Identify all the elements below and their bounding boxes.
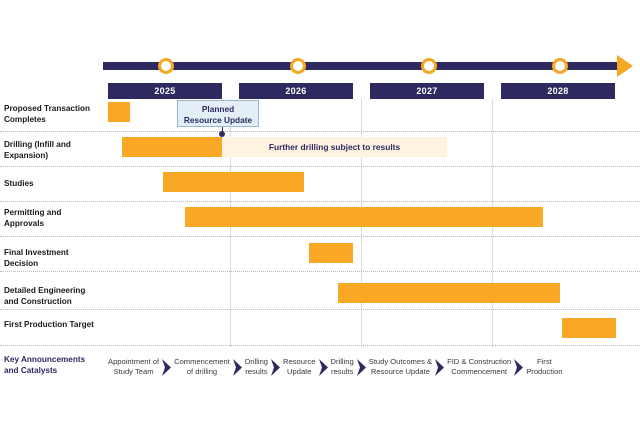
timeline-milestone-marker-2025 — [158, 58, 174, 74]
callout-planned-resource-update: Planned Resource Update — [177, 100, 259, 127]
timeline-milestone-marker-2028 — [552, 58, 568, 74]
catalyst-item-study-outcomes-resource-update: Study Outcomes & Resource Update — [367, 357, 434, 377]
catalyst-item-drilling-results-2: Drilling results — [329, 357, 356, 377]
catalyst-6-line-2: Commencement — [447, 367, 511, 377]
row-separator-2 — [0, 201, 640, 202]
year-header-2025: 2025 — [108, 83, 222, 99]
catalysts-label-line-1: Key Announcements — [4, 354, 104, 365]
row-separator-3 — [0, 236, 640, 237]
row-separator-0 — [0, 131, 640, 132]
catalyst-7-line-1: First — [526, 357, 562, 367]
row-label-detailed-engineering-and-construction: Detailed Engineering and Construction — [4, 285, 100, 307]
row-separator-4 — [0, 271, 640, 272]
catalyst-7-line-2: Production — [526, 367, 562, 377]
catalyst-4-line-2: results — [331, 367, 354, 377]
row-label-first-production-target: First Production Target — [4, 319, 100, 330]
timeline-arrow-icon — [617, 55, 633, 77]
catalyst-1-line-1: Commencement — [174, 357, 230, 367]
row-label-studies: Studies — [4, 178, 100, 189]
bar-drilling-infill-expansion — [122, 137, 222, 157]
row-separator-6 — [0, 345, 640, 346]
catalyst-item-fid-construction-commencement: FID & Construction Commencement — [445, 357, 513, 377]
row-separator-5 — [0, 309, 640, 310]
chevron-right-icon — [162, 359, 171, 376]
bar-studies — [163, 172, 304, 192]
catalyst-4-line-1: Drilling — [331, 357, 354, 367]
catalyst-item-drilling-results-1: Drilling results — [243, 357, 270, 377]
chevron-right-icon — [514, 359, 523, 376]
row-label-proposed-transaction-completes: Proposed Transaction Completes — [4, 103, 100, 125]
callout-line-1: Planned — [182, 104, 254, 115]
catalyst-3-line-1: Resource — [283, 357, 316, 367]
row-label-drilling-infill-and-expansion: Drilling (Infill and Expansion) — [4, 139, 100, 161]
timeline-milestone-marker-2027 — [421, 58, 437, 74]
bar-detailed-engineering-and-construction — [338, 283, 560, 303]
catalyst-3-line-2: Update — [283, 367, 316, 377]
chevron-right-icon — [357, 359, 366, 376]
bar-final-investment-decision — [309, 243, 353, 263]
catalyst-5-line-2: Resource Update — [369, 367, 432, 377]
row-label-final-investment-decision: Final Investment Decision — [4, 247, 100, 269]
catalysts-section-label: Key Announcements and Catalysts — [4, 354, 104, 376]
project-timeline-chart: 2025 2026 2027 2028 Proposed Transaction… — [0, 0, 640, 440]
catalyst-1-line-2: of drilling — [174, 367, 230, 377]
catalyst-6-line-1: FID & Construction — [447, 357, 511, 367]
catalyst-item-resource-update: Resource Update — [281, 357, 318, 377]
catalyst-item-first-production: First Production — [524, 357, 564, 377]
callout-anchor-dot — [219, 131, 225, 137]
timeline-milestone-marker-2026 — [290, 58, 306, 74]
year-header-2028: 2028 — [501, 83, 615, 99]
chevron-right-icon — [435, 359, 444, 376]
timeline-axis-line — [103, 62, 619, 70]
bar-proposed-transaction-completes — [108, 102, 130, 122]
catalyst-2-line-2: results — [245, 367, 268, 377]
catalysts-label-line-2: and Catalysts — [4, 365, 104, 376]
year-header-2027: 2027 — [370, 83, 484, 99]
chevron-right-icon — [319, 359, 328, 376]
callout-line-2: Resource Update — [182, 115, 254, 126]
catalyst-0-line-2: Study Team — [108, 367, 159, 377]
bar-first-production-target — [562, 318, 616, 338]
bar-drilling-further-subject-to-results: Further drilling subject to results — [222, 137, 447, 157]
catalyst-5-line-1: Study Outcomes & — [369, 357, 432, 367]
catalysts-strip: Appointment of Study Team Commencement o… — [106, 350, 634, 384]
chevron-right-icon — [233, 359, 242, 376]
row-separator-1 — [0, 166, 640, 167]
catalyst-2-line-1: Drilling — [245, 357, 268, 367]
catalyst-item-commencement-of-drilling: Commencement of drilling — [172, 357, 232, 377]
catalyst-0-line-1: Appointment of — [108, 357, 159, 367]
catalyst-item-appointment-of-study-team: Appointment of Study Team — [106, 357, 161, 377]
row-label-permitting-and-approvals: Permitting and Approvals — [4, 207, 100, 229]
bar-permitting-and-approvals — [185, 207, 543, 227]
chevron-right-icon — [271, 359, 280, 376]
year-header-2026: 2026 — [239, 83, 353, 99]
